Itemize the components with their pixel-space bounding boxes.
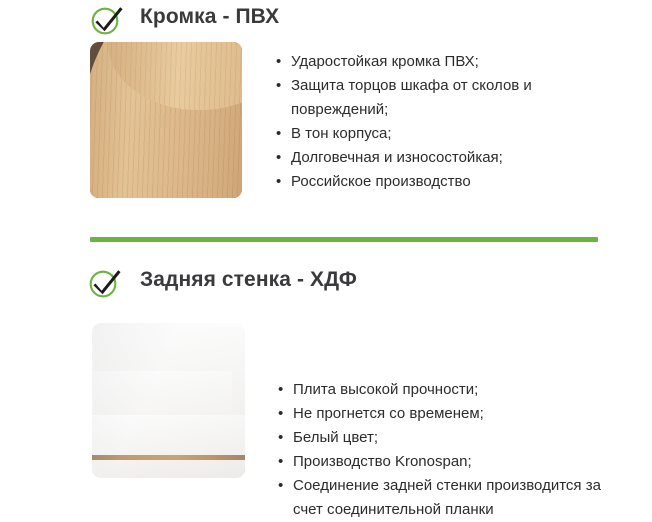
list-item: Производство Kronospan; — [278, 450, 618, 474]
list-item: Соединение задней стенки производится за… — [278, 474, 618, 522]
section-body-row: Ударостойкая кромка ПВХ; Защита торцов ш… — [0, 42, 652, 212]
list-item: Российское производство — [276, 170, 626, 194]
hdf-boards-photo — [92, 323, 245, 478]
list-item: Плита высокой прочности; — [278, 378, 618, 402]
list-item: Не прогнется со временем; — [278, 402, 618, 426]
hdf-sheet-edge — [92, 455, 245, 460]
hdf-photo-inner — [92, 323, 245, 478]
list-item: Защита торцов шкафа от сколов и поврежде… — [276, 74, 626, 122]
section-heading-row: Задняя стенка - ХДФ — [0, 245, 652, 323]
page-title: Кромка - ПВХ — [140, 0, 279, 34]
pvc-edge-band-photo — [90, 42, 242, 198]
check-circle-icon — [88, 265, 122, 299]
list-item: Ударостойкая кромка ПВХ; — [276, 50, 626, 74]
section-heading-row: Кромка - ПВХ — [0, 0, 652, 42]
list-item: В тон корпуса; — [276, 122, 626, 146]
check-circle-icon — [90, 2, 124, 36]
feature-list-pvc: Ударостойкая кромка ПВХ; Защита торцов ш… — [276, 50, 626, 194]
feature-list-back-panel: Плита высокой прочности; Не прогнется со… — [278, 378, 618, 522]
section-body-row: Плита высокой прочности; Не прогнется со… — [0, 323, 652, 503]
list-item: Долговечная и износостойкая; — [276, 146, 626, 170]
infographic-page: Кромка - ПВХ Ударостойкая кромка ПВХ; За… — [0, 0, 652, 500]
section-back-panel: Задняя стенка - ХДФ Плит — [0, 245, 652, 503]
page-title: Задняя стенка - ХДФ — [140, 263, 357, 297]
section-pvc-edge: Кромка - ПВХ Ударостойкая кромка ПВХ; За… — [0, 0, 652, 212]
section-divider — [90, 237, 598, 242]
pvc-photo-inner — [90, 42, 242, 198]
list-item: Белый цвет; — [278, 426, 618, 450]
hdf-sheet-front — [92, 415, 245, 478]
